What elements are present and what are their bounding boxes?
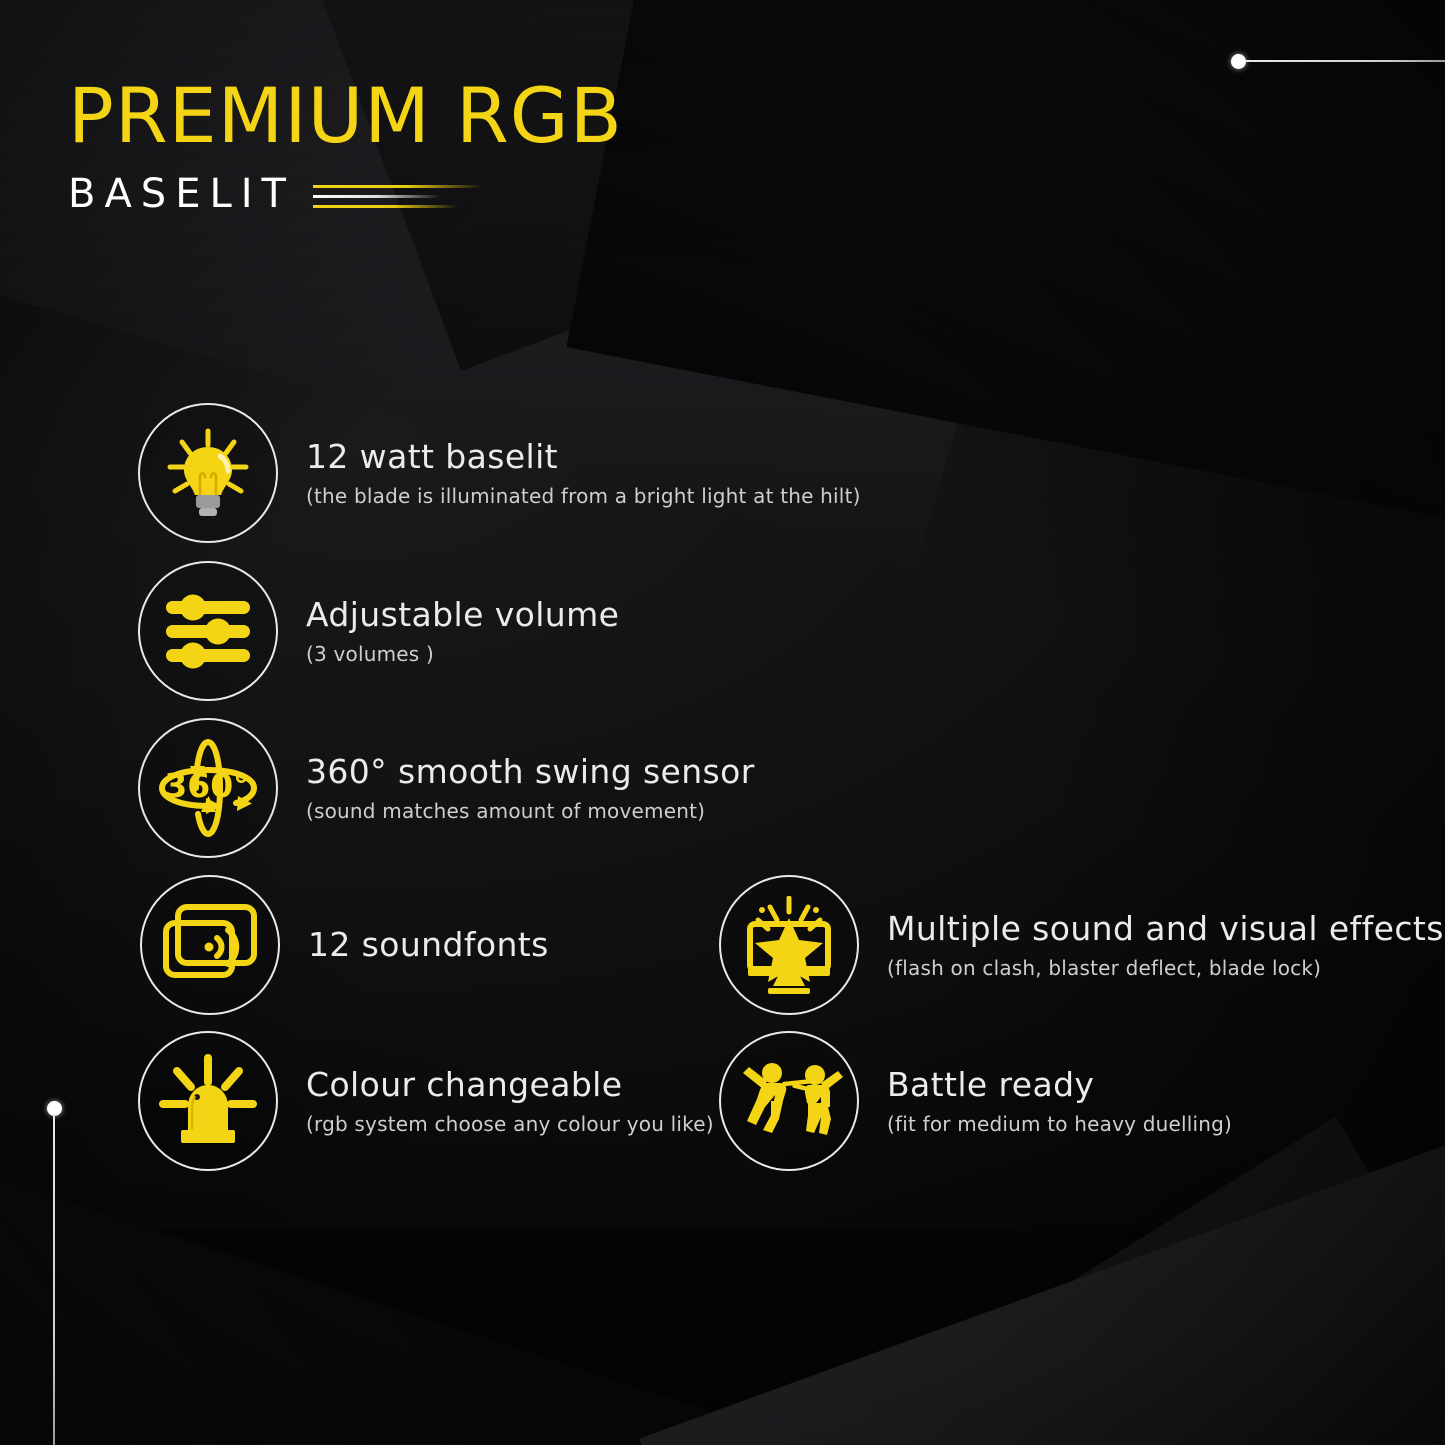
feature-text-6: Battle ready (fit for medium to heavy du… (887, 1066, 1232, 1137)
feature-subtitle-0: (the blade is illuminated from a bright … (306, 484, 861, 508)
feature-title-3: 12 soundfonts (308, 926, 549, 964)
monitor-star-icon (719, 875, 859, 1015)
feature-item-2: 360° 360° smooth swing sensor (sound mat… (138, 718, 755, 858)
sliders-icon (138, 561, 278, 701)
feature-subtitle-5: (flash on clash, blaster deflect, blade … (887, 956, 1444, 980)
speed-line-white (313, 195, 441, 198)
feature-title-6: Battle ready (887, 1066, 1232, 1104)
brand-header: PREMIUM RGB BASELIT (68, 78, 623, 214)
feature-title-0: 12 watt baselit (306, 438, 861, 476)
feature-title-5: Multiple sound and visual effects (887, 910, 1444, 948)
duelling-figures-icon (719, 1031, 859, 1171)
feature-title-4: Colour changeable (306, 1066, 714, 1104)
feature-text-4: Colour changeable (rgb system choose any… (306, 1066, 714, 1137)
feature-title-1: Adjustable volume (306, 596, 619, 634)
speed-line-yellow-bottom (313, 205, 458, 208)
rotation-360-icon: 360° (138, 718, 278, 858)
feature-title-2: 360° smooth swing sensor (306, 753, 755, 791)
feature-subtitle-2: (sound matches amount of movement) (306, 799, 755, 823)
siren-light-icon (138, 1031, 278, 1171)
feature-item-6: Battle ready (fit for medium to heavy du… (719, 1031, 1232, 1171)
feature-text-2: 360° smooth swing sensor (sound matches … (306, 753, 755, 824)
feature-item-0: 12 watt baselit (the blade is illuminate… (138, 403, 861, 543)
sound-card-icon (140, 875, 280, 1015)
brand-speed-lines (313, 181, 483, 208)
accent-line-bottom-left (53, 1114, 55, 1445)
feature-text-5: Multiple sound and visual effects (flash… (887, 910, 1444, 981)
feature-text-3: 12 soundfonts (308, 926, 549, 964)
feature-text-1: Adjustable volume (3 volumes ) (306, 596, 619, 667)
background-facet-bottom-left (0, 1165, 904, 1445)
feature-subtitle-1: (3 volumes ) (306, 642, 619, 666)
rotation-360-label: 360° (164, 766, 249, 805)
speed-line-yellow-top (313, 185, 483, 188)
poster-canvas: PREMIUM RGB BASELIT (0, 0, 1445, 1445)
feature-subtitle-6: (fit for medium to heavy duelling) (887, 1112, 1232, 1136)
feature-item-3: 12 soundfonts (140, 875, 549, 1015)
brand-subtitle-row: BASELIT (68, 174, 623, 214)
accent-dot-top-right (1231, 54, 1246, 69)
feature-text-0: 12 watt baselit (the blade is illuminate… (306, 438, 861, 509)
feature-item-5: Multiple sound and visual effects (flash… (719, 875, 1444, 1015)
feature-item-1: Adjustable volume (3 volumes ) (138, 561, 619, 701)
feature-subtitle-4: (rgb system choose any colour you like) (306, 1112, 714, 1136)
accent-line-top-right (1245, 60, 1445, 62)
background-facet-bottom-right-2 (639, 1131, 1445, 1445)
feature-item-4: Colour changeable (rgb system choose any… (138, 1031, 714, 1171)
page-title: PREMIUM RGB (68, 78, 623, 154)
lightbulb-icon (138, 403, 278, 543)
page-subtitle: BASELIT (68, 174, 295, 214)
